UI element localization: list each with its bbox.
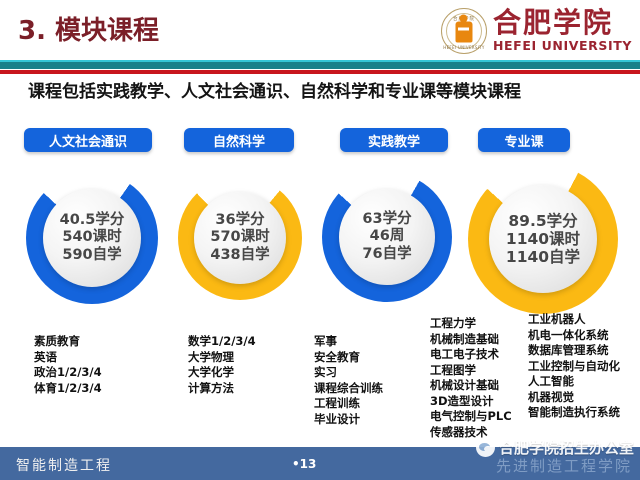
subtitle-text: 课程包括实践教学、人文社会通识、自然科学和专业课等模块课程: [28, 76, 628, 102]
slide-header: 3. 模块课程 合肥学院 HEFEI UNIVERSITY 合肥学院 HEFEI…: [0, 0, 640, 60]
list-item: 机械设计基础: [430, 378, 512, 394]
category-chip-major-courses[interactable]: 专业课: [478, 128, 570, 152]
course-list-items: 数学1/2/3/4 大学物理 大学化学 计算方法: [188, 334, 256, 396]
course-list-items: 军事 安全教育 实习 课程综合训练 工程训练 毕业设计: [314, 334, 383, 427]
list-item: 工业机器人: [528, 312, 620, 328]
list-item: 安全教育: [314, 350, 383, 366]
list-item: 电工电子技术: [430, 347, 512, 363]
footer-program-label: 智能制造工程: [16, 455, 112, 475]
divider-teal: [0, 62, 640, 69]
donut-stat: 590自学: [62, 247, 121, 264]
list-item: 体育1/2/3/4: [34, 381, 102, 397]
list-item: 3D造型设计: [430, 394, 512, 410]
list-item: 英语: [34, 350, 102, 366]
list-item: 电气控制与PLC: [430, 409, 512, 425]
donut-center-humanities: 40.5学分 540课时 590自学: [43, 189, 141, 287]
donut-center-major-courses: 89.5学分 1140课时 1140自学: [489, 185, 597, 293]
list-item: 工程力学: [430, 316, 512, 332]
list-item: 数学1/2/3/4: [188, 334, 256, 350]
list-item: 课程综合训练: [314, 381, 383, 397]
footer-page-number: •13: [292, 457, 316, 471]
list-item: 机器视觉: [528, 390, 620, 406]
list-item: 工程训练: [314, 396, 383, 412]
donut-chart-major-courses: 89.5学分 1140课时 1140自学: [468, 164, 618, 314]
course-list-items: 素质教育 英语 政治1/2/3/4 体育1/2/3/4: [34, 334, 102, 396]
list-item: 机械制造基础: [430, 332, 512, 348]
list-item: 工业控制与自动化: [528, 359, 620, 375]
list-item: 人工智能: [528, 374, 620, 390]
wechat-icon: [476, 438, 495, 457]
logo-name-cn: 合肥学院: [493, 9, 613, 37]
seal-figure-icon: [455, 21, 472, 42]
course-list-natural-science: 数学1/2/3/4 大学物理 大学化学 计算方法: [188, 334, 256, 396]
donut-center-natural-science: 36学分 570课时 438自学: [194, 192, 286, 284]
list-item: 大学化学: [188, 365, 256, 381]
logo-wordmark: 合肥学院 HEFEI UNIVERSITY: [493, 9, 632, 53]
course-list-items: 工业机器人 机电一体化系统 数据库管理系统 工业控制与自动化 人工智能 机器视觉…: [528, 312, 620, 421]
divider-red: [0, 70, 640, 74]
donut-chart-practical-teaching: 63学分 46周 76自学: [322, 172, 452, 302]
donut-chart-natural-science: 36学分 570课时 438自学: [178, 176, 302, 300]
course-list-humanities: 素质教育 英语 政治1/2/3/4 体育1/2/3/4: [34, 334, 102, 396]
donut-stat: 36学分: [215, 212, 264, 229]
category-chip-humanities[interactable]: 人文社会通识: [24, 128, 152, 152]
logo-name-en: HEFEI UNIVERSITY: [493, 40, 632, 53]
donut-stat: 89.5学分: [508, 212, 577, 230]
list-item: 大学物理: [188, 350, 256, 366]
page-title: 3. 模块课程: [18, 10, 159, 47]
list-item: 素质教育: [34, 334, 102, 350]
list-item: 机电一体化系统: [528, 328, 620, 344]
wechat-watermark: 合肥学院招生办公室: [476, 437, 634, 458]
donut-stat: 438自学: [210, 247, 269, 264]
donut-stat: 76自学: [362, 246, 411, 263]
slide-root: 3. 模块课程 合肥学院 HEFEI UNIVERSITY 合肥学院 HEFEI…: [0, 0, 640, 480]
course-list-major-a: 工程力学 机械制造基础 电工电子技术 工程图学 机械设计基础 3D造型设计 电气…: [430, 316, 512, 440]
donut-stat: 1140自学: [506, 248, 580, 266]
donut-stat: 63学分: [362, 211, 411, 228]
university-seal-icon: 合肥学院 HEFEI UNIVERSITY: [441, 8, 487, 54]
list-item: 政治1/2/3/4: [34, 365, 102, 381]
list-item: 军事: [314, 334, 383, 350]
list-item: 数据库管理系统: [528, 343, 620, 359]
footer-school-label: 先进制造工程学院: [496, 455, 632, 476]
donut-stat: 1140课时: [506, 230, 580, 248]
list-item: 实习: [314, 365, 383, 381]
course-list-major-b: 工业机器人 机电一体化系统 数据库管理系统 工业控制与自动化 人工智能 机器视觉…: [528, 312, 620, 421]
category-chip-natural-science[interactable]: 自然科学: [184, 128, 294, 152]
donut-stat: 570课时: [210, 229, 269, 246]
watermark-label: 合肥学院招生办公室: [499, 437, 634, 458]
list-item: 智能制造执行系统: [528, 405, 620, 421]
course-list-items: 工程力学 机械制造基础 电工电子技术 工程图学 机械设计基础 3D造型设计 电气…: [430, 316, 512, 440]
donut-stat: 46周: [370, 228, 405, 245]
donut-center-practical-teaching: 63学分 46周 76自学: [339, 189, 435, 285]
category-chip-practical-teaching[interactable]: 实践教学: [340, 128, 448, 152]
donut-stat: 40.5学分: [60, 212, 125, 229]
donut-stat: 540课时: [62, 229, 121, 246]
donut-chart-humanities: 40.5学分 540课时 590自学: [26, 172, 158, 304]
list-item: 毕业设计: [314, 412, 383, 428]
course-list-practical-teaching: 军事 安全教育 实习 课程综合训练 工程训练 毕业设计: [314, 334, 383, 427]
university-logo: 合肥学院 HEFEI UNIVERSITY 合肥学院 HEFEI UNIVERS…: [441, 6, 632, 56]
list-item: 工程图学: [430, 363, 512, 379]
list-item: 计算方法: [188, 381, 256, 397]
seal-bottom-text: HEFEI UNIVERSITY: [443, 45, 484, 50]
